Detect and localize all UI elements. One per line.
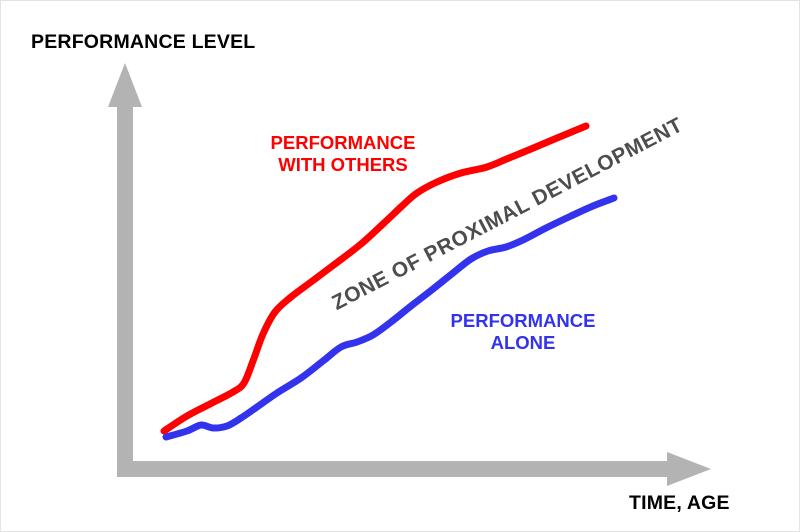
series-label-line-1: PERFORMANCE: [254, 132, 432, 154]
x-axis-arrow: [117, 452, 711, 486]
series-label-line-2: ALONE: [434, 332, 612, 354]
y-axis-label: PERFORMANCE LEVEL: [31, 31, 255, 54]
series-label-line-1: PERFORMANCE: [434, 310, 612, 332]
diagram-canvas: PERFORMANCE LEVEL TIME, AGE PERFORMANCE …: [0, 0, 800, 532]
series-label-performance-alone: PERFORMANCE ALONE: [434, 310, 612, 354]
y-axis-arrow: [108, 63, 142, 469]
x-axis-label: TIME, AGE: [629, 492, 730, 515]
series-label-performance-with-others: PERFORMANCE WITH OTHERS: [254, 132, 432, 176]
series-label-line-2: WITH OTHERS: [254, 154, 432, 176]
